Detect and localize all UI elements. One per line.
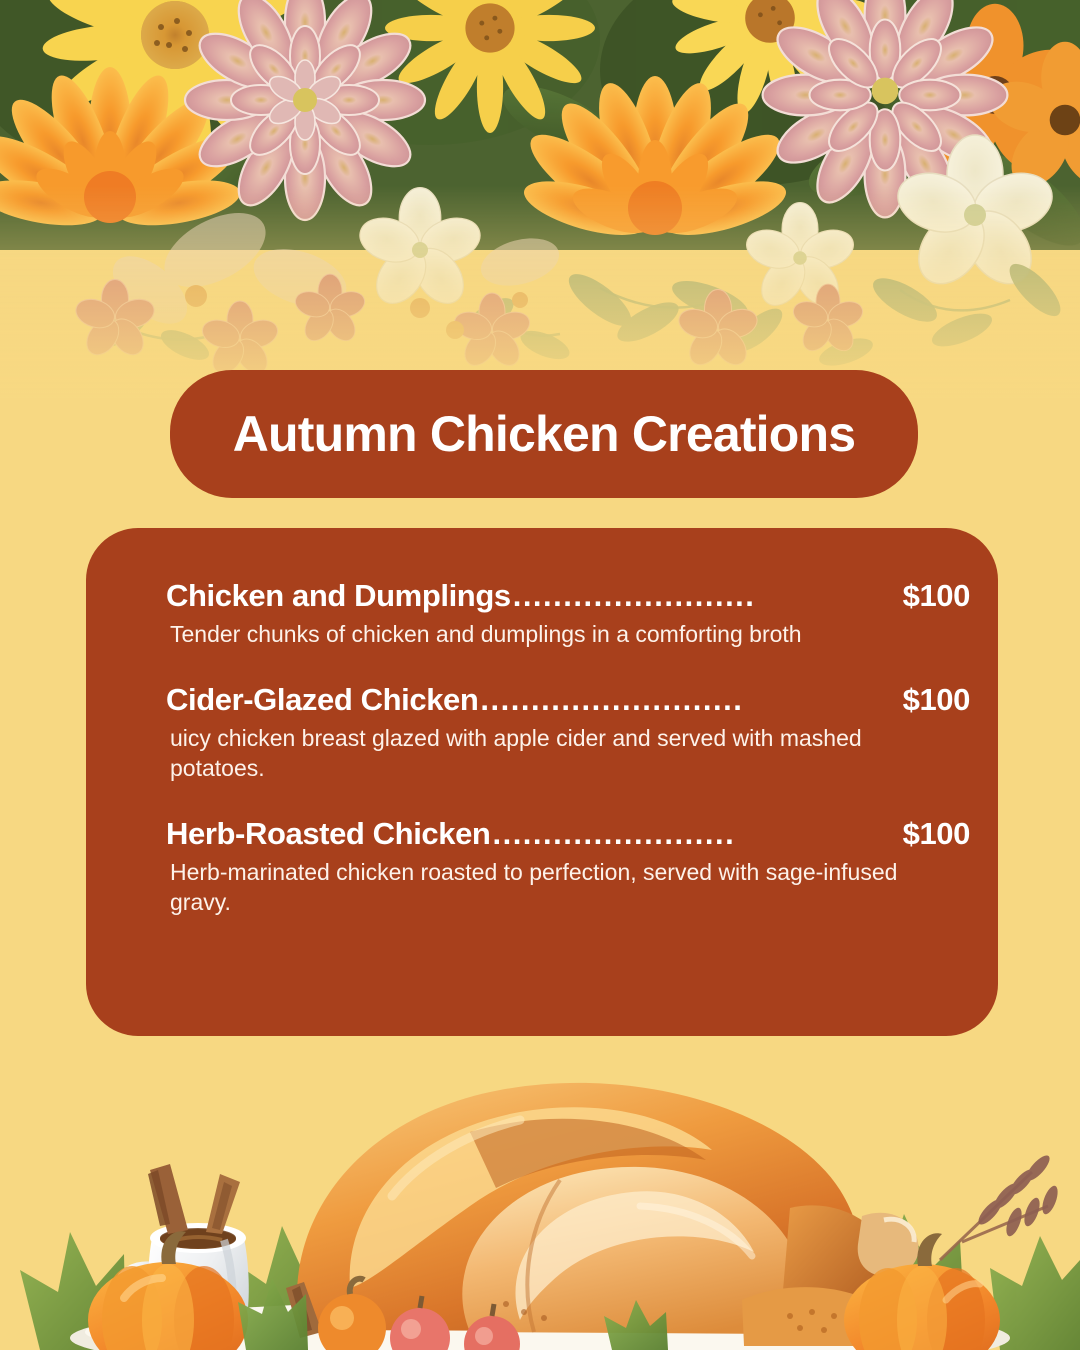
- menu-item-description: Tender chunks of chicken and dumplings i…: [86, 620, 998, 650]
- menu-title-banner: Autumn Chicken Creations: [170, 370, 918, 498]
- menu-item-description: uicy chicken breast glazed with apple ci…: [86, 724, 998, 784]
- floral-header-decoration: [0, 0, 1080, 400]
- menu-item-price: $100: [903, 578, 970, 614]
- menu-item-list: Chicken and Dumplings ..................…: [86, 578, 998, 917]
- menu-item-price: $100: [903, 816, 970, 852]
- page-title: Autumn Chicken Creations: [233, 405, 856, 463]
- menu-item-name: Cider-Glazed Chicken: [166, 682, 478, 718]
- menu-item-heading: Herb-Roasted Chicken ...................…: [86, 816, 998, 852]
- menu-item-price: $100: [903, 682, 970, 718]
- menu-item-description: Herb-marinated chicken roasted to perfec…: [86, 858, 998, 918]
- menu-item-heading: Cider-Glazed Chicken ...................…: [86, 682, 998, 718]
- dot-leader: ........................: [513, 578, 901, 614]
- dot-leader: ..........................: [480, 682, 900, 718]
- menu-item: Cider-Glazed Chicken ...................…: [86, 682, 998, 784]
- menu-poster: Autumn Chicken Creations Chicken and Dum…: [0, 0, 1080, 1350]
- menu-item-name: Herb-Roasted Chicken: [166, 816, 490, 852]
- menu-item-name: Chicken and Dumplings: [166, 578, 511, 614]
- menu-item-heading: Chicken and Dumplings ..................…: [86, 578, 998, 614]
- menu-item: Chicken and Dumplings ..................…: [86, 578, 998, 650]
- menu-items-card: Chicken and Dumplings ..................…: [86, 528, 998, 1036]
- menu-item: Herb-Roasted Chicken ...................…: [86, 816, 998, 918]
- dot-leader: ........................: [492, 816, 900, 852]
- roast-turkey-illustration: [0, 1020, 1080, 1350]
